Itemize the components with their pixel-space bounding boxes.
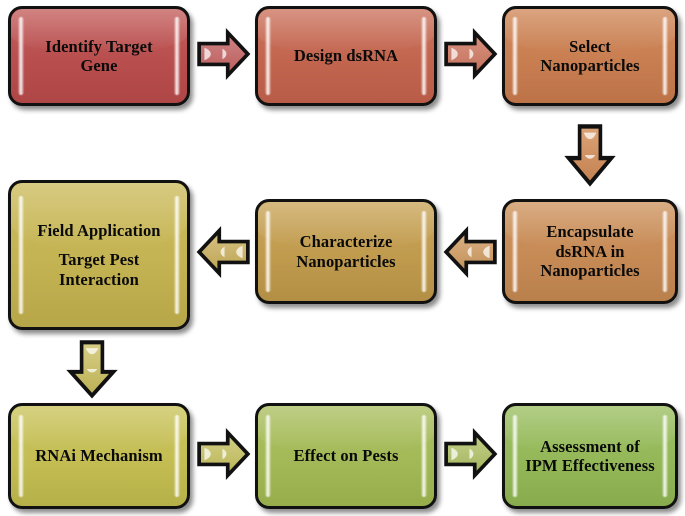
process-node-assessment-of-ipm-effectiveness[interactable]: Assessment of IPM Effectiveness xyxy=(502,403,678,509)
node-label: Effect on Pests xyxy=(293,446,398,465)
node-right-highlight xyxy=(174,17,180,94)
node-left-highlight xyxy=(18,17,24,94)
process-node-encapsulate-dsrna-in-nanoparticles[interactable]: Encapsulate dsRNA in Nanoparticles xyxy=(502,199,678,304)
node-label: RNAi Mechanism xyxy=(35,446,162,465)
node-left-highlight xyxy=(18,196,24,314)
node-label: Encapsulate dsRNA in Nanoparticles xyxy=(540,222,639,280)
left-arrow-icon xyxy=(444,226,497,278)
node-right-highlight xyxy=(421,211,427,292)
right-arrow-icon xyxy=(197,28,250,80)
node-label-group: Field ApplicationTarget Pest Interaction xyxy=(35,221,162,289)
node-label: Design dsRNA xyxy=(294,46,398,65)
node-gloss-overlay xyxy=(11,406,187,452)
node-label-group: Characterize Nanoparticles xyxy=(294,232,397,271)
node-label-group: Identify Target Gene xyxy=(43,37,154,76)
node-right-highlight xyxy=(174,196,180,314)
node-label-group: Encapsulate dsRNA in Nanoparticles xyxy=(538,222,641,280)
node-right-highlight xyxy=(421,415,427,497)
node-left-highlight xyxy=(18,415,24,497)
node-left-highlight xyxy=(512,415,518,497)
node-right-highlight xyxy=(662,415,668,497)
node-left-highlight xyxy=(265,415,271,497)
process-node-field-application-target-pest-interaction[interactable]: Field ApplicationTarget Pest Interaction xyxy=(8,180,190,330)
node-label: Select Nanoparticles xyxy=(540,37,639,76)
node-left-highlight xyxy=(265,211,271,292)
node-label-group: RNAi Mechanism xyxy=(33,446,164,465)
right-arrow-icon xyxy=(444,28,497,80)
node-right-highlight xyxy=(662,17,668,94)
process-node-design-dsrna[interactable]: Design dsRNA xyxy=(255,6,437,106)
down-arrow-icon xyxy=(564,124,616,186)
process-node-rnai-mechanism[interactable]: RNAi Mechanism xyxy=(8,403,190,509)
node-right-highlight xyxy=(662,211,668,292)
node-label-secondary: Target Pest Interaction xyxy=(37,250,160,289)
node-right-highlight xyxy=(421,17,427,94)
node-left-highlight xyxy=(512,17,518,94)
node-left-highlight xyxy=(265,17,271,94)
process-node-characterize-nanoparticles[interactable]: Characterize Nanoparticles xyxy=(255,199,437,304)
flowchart-canvas: Identify Target GeneDesign dsRNASelect N… xyxy=(0,0,685,516)
right-arrow-icon xyxy=(197,428,250,480)
node-label: Characterize Nanoparticles xyxy=(296,232,395,271)
left-arrow-icon xyxy=(197,226,250,278)
process-node-identify-target-gene[interactable]: Identify Target Gene xyxy=(8,6,190,106)
node-right-highlight xyxy=(174,415,180,497)
process-node-select-nanoparticles[interactable]: Select Nanoparticles xyxy=(502,6,678,106)
right-arrow-icon xyxy=(444,428,497,480)
node-label-group: Design dsRNA xyxy=(292,46,400,65)
down-arrow-icon xyxy=(66,340,118,398)
process-node-effect-on-pests[interactable]: Effect on Pests xyxy=(255,403,437,509)
node-left-highlight xyxy=(512,211,518,292)
node-gloss-overlay xyxy=(258,406,434,452)
node-label-group: Effect on Pests xyxy=(291,446,400,465)
node-label-group: Select Nanoparticles xyxy=(538,37,641,76)
node-label-group: Assessment of IPM Effectiveness xyxy=(523,437,657,476)
node-label: Assessment of IPM Effectiveness xyxy=(525,437,655,476)
node-label: Field Application xyxy=(37,221,160,240)
node-label: Identify Target Gene xyxy=(45,37,152,76)
